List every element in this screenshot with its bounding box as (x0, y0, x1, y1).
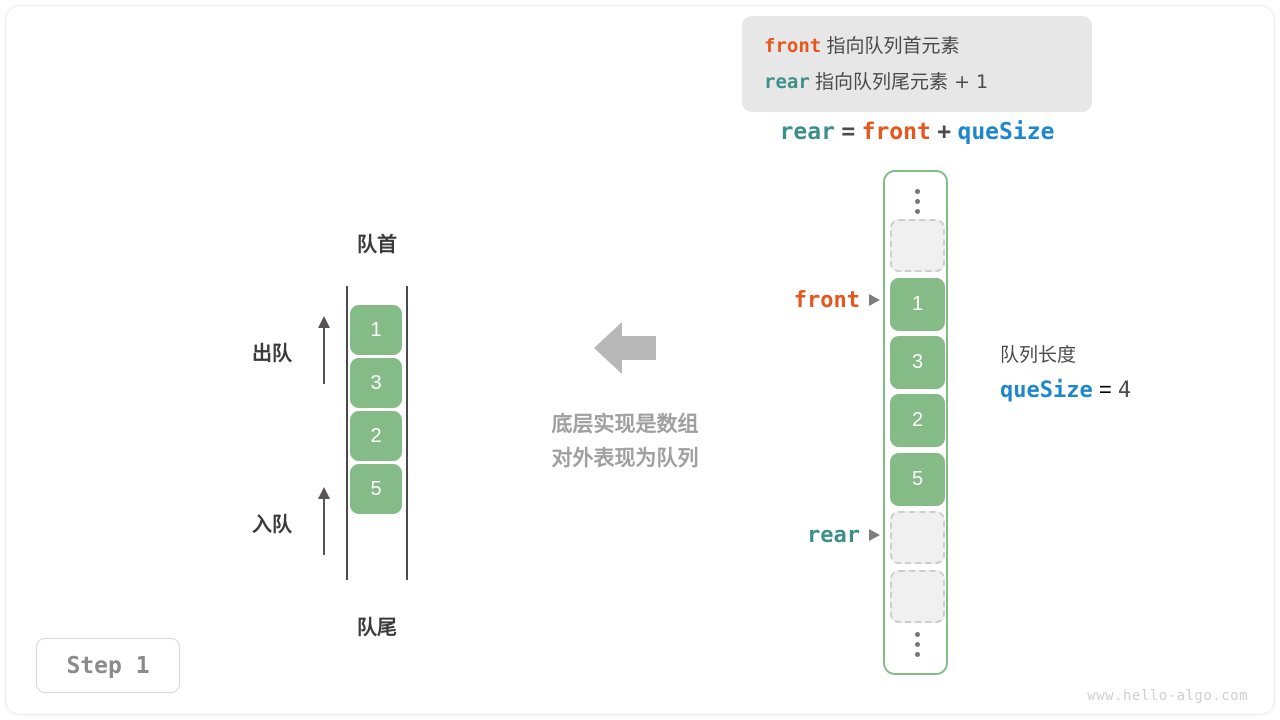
ellipsis-bottom-icon (885, 623, 950, 665)
queue-cell-0-value: 1 (370, 319, 381, 342)
formula-equals: = (841, 119, 855, 145)
array-cell-0[interactable] (890, 219, 945, 272)
note-rear-keyword: rear (764, 71, 810, 93)
ellipsis-top-icon (885, 180, 950, 222)
transform-arrow-icon (594, 322, 656, 374)
queue-cell-1[interactable]: 3 (350, 358, 402, 408)
center-explanation: 底层实现是数组 对外表现为队列 (485, 408, 765, 476)
queue-length-equals: = (1099, 377, 1112, 402)
dequeue-arrow-icon (316, 316, 332, 384)
queue-cell-2[interactable]: 2 (350, 411, 402, 461)
array-cell-1[interactable]: 1 (890, 278, 945, 331)
queue-length-title: 队列长度 (1000, 340, 1131, 367)
queue-cell-3[interactable]: 5 (350, 464, 402, 514)
rear-pointer: rear (680, 521, 880, 549)
front-pointer-arrow-icon (869, 294, 880, 306)
queue-cell-0[interactable]: 1 (350, 305, 402, 355)
center-explanation-line1: 底层实现是数组 (485, 408, 765, 442)
front-pointer: front (680, 286, 880, 314)
step-badge: Step 1 (36, 638, 180, 693)
watermark: www.hello-algo.com (1087, 688, 1248, 704)
queue-rail-left (346, 286, 348, 580)
formula-plus: + (937, 119, 951, 145)
queue-length-value-row: queSize = 4 (1000, 377, 1131, 403)
rear-pointer-arrow-icon (869, 529, 880, 541)
enqueue-arrow-icon (316, 487, 332, 555)
array-cell-4[interactable]: 5 (890, 453, 945, 506)
queue-cell-1-value: 3 (370, 372, 381, 395)
array-cell-3[interactable]: 2 (890, 394, 945, 447)
queue-cell-3-value: 5 (370, 478, 381, 501)
note-line-front: front 指向队列首元素 (764, 28, 1092, 64)
queue-length-annotation: 队列长度 queSize = 4 (1000, 340, 1131, 403)
array-cell-2-value: 3 (912, 351, 923, 374)
formula-quesize: queSize (957, 119, 1054, 145)
note-line-rear: rear 指向队列尾元素 + 1 (764, 64, 1092, 100)
queue-rail-right (406, 286, 408, 580)
queue-cell-2-value: 2 (370, 425, 381, 448)
rear-pointer-label: rear (807, 523, 860, 548)
array-cell-4-value: 5 (912, 468, 923, 491)
queue-length-variable: queSize (1000, 378, 1093, 403)
front-pointer-label: front (794, 288, 860, 313)
queue-tail-label: 队尾 (317, 611, 437, 640)
center-explanation-line2: 对外表现为队列 (485, 442, 765, 476)
dequeue-label: 出队 (252, 337, 292, 366)
pointer-definition-note: front 指向队列首元素 rear 指向队列尾元素 + 1 (742, 16, 1092, 112)
enqueue-label: 入队 (252, 508, 292, 537)
queue-length-number: 4 (1118, 378, 1131, 403)
note-front-description: 指向队列首元素 (826, 35, 959, 57)
note-rear-description: 指向队列尾元素 + 1 (815, 71, 988, 93)
diagram-canvas: front 指向队列首元素 rear 指向队列尾元素 + 1 rear = fr… (0, 0, 1280, 720)
array-cell-6[interactable] (890, 570, 945, 623)
queue-head-label: 队首 (317, 228, 437, 257)
rear-formula: rear = front + queSize (742, 118, 1092, 145)
array-cell-2[interactable]: 3 (890, 336, 945, 389)
formula-front: front (862, 119, 931, 145)
array-container: 1 3 2 5 (883, 170, 948, 675)
note-front-keyword: front (764, 35, 821, 57)
array-cell-3-value: 2 (912, 409, 923, 432)
array-cell-1-value: 1 (912, 293, 923, 316)
array-cell-5[interactable] (890, 511, 945, 564)
formula-rear: rear (780, 119, 835, 145)
